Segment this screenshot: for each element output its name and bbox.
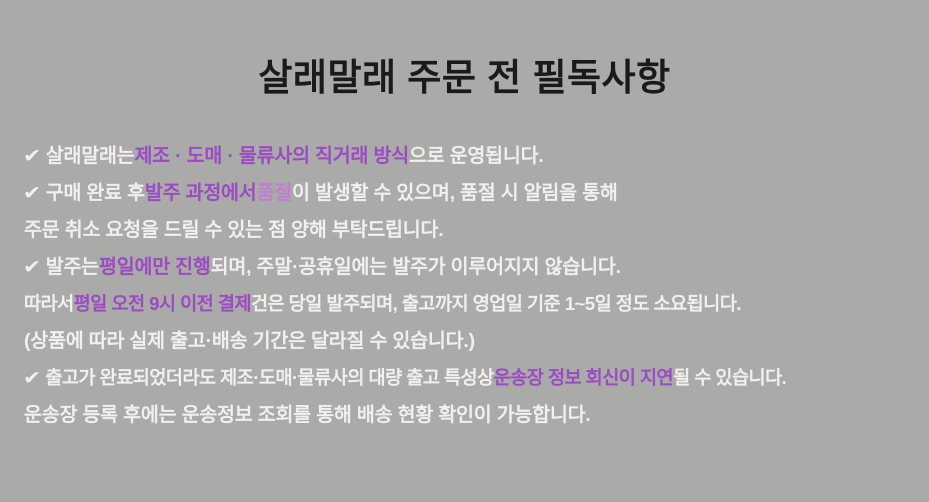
notice-text: 되며, 주말·공휴일에는 발주가 이루어지지 않습니다. bbox=[211, 258, 621, 278]
notice-text: 으로 운영됩니다. bbox=[409, 147, 544, 167]
notice-text: 주문 취소 요청을 드릴 수 있는 점 양해 부탁드립니다. bbox=[24, 221, 444, 241]
notice-text: 운송장 등록 후에는 운송정보 조회를 통해 배송 현황 확인이 가능합니다. bbox=[24, 406, 591, 426]
notice-highlight: 평일 오전 9시 이전 결제 bbox=[74, 295, 251, 314]
notice-line: ✔발주는 평일에만 진행되며, 주말·공휴일에는 발주가 이루어지지 않습니다. bbox=[24, 249, 919, 286]
notice-text: 따라서 bbox=[24, 295, 74, 314]
check-icon: ✔ bbox=[23, 147, 41, 166]
page-title: 살래말래 주문 전 필독사항 bbox=[0, 56, 929, 100]
notice-highlight: 운송장 정보 회신이 지연 bbox=[494, 369, 673, 388]
check-icon: ✔ bbox=[23, 184, 41, 203]
notice-line: 운송장 등록 후에는 운송정보 조회를 통해 배송 현황 확인이 가능합니다. bbox=[24, 397, 919, 434]
notice-highlight: 평일에만 진행 bbox=[99, 258, 211, 278]
notice-text: (상품에 따라 실제 출고·배송 기간은 달라질 수 있습니다.) bbox=[24, 332, 475, 352]
notice-line: 따라서 평일 오전 9시 이전 결제 건은 당일 발주되며, 출고까지 영업일 … bbox=[24, 286, 919, 323]
notice-line: 주문 취소 요청을 드릴 수 있는 점 양해 부탁드립니다. bbox=[24, 212, 919, 249]
notice-line: ✔구매 완료 후 발주 과정에서 품절이 발생할 수 있으며, 품절 시 알림을… bbox=[24, 175, 919, 212]
notice-highlight: 품절 bbox=[257, 184, 292, 204]
check-icon: ✔ bbox=[23, 369, 41, 388]
notice-text: 건은 당일 발주되며, 출고까지 영업일 기준 1~5일 정도 소요됩니다. bbox=[251, 295, 741, 314]
notice-banner: 살래말래 주문 전 필독사항 ✔살래말래는 제조 · 도매 · 물류사의 직거래… bbox=[0, 0, 929, 502]
notice-text: 구매 완료 후 bbox=[46, 184, 145, 204]
notice-highlight: 발주 과정에서 bbox=[145, 184, 257, 204]
notice-highlight: 제조 · 도매 · 물류사의 직거래 방식 bbox=[134, 147, 409, 167]
notice-line: ✔살래말래는 제조 · 도매 · 물류사의 직거래 방식으로 운영됩니다. bbox=[24, 138, 919, 175]
notice-line: ✔출고가 완료되었더라도 제조·도매·물류사의 대량 출고 특성상 운송장 정보… bbox=[24, 360, 919, 397]
notice-text: 이 발생할 수 있으며, 품절 시 알림을 통해 bbox=[292, 184, 618, 204]
notice-text: 출고가 완료되었더라도 제조·도매·물류사의 대량 출고 특성상 bbox=[45, 369, 493, 388]
notice-text: 살래말래는 bbox=[46, 147, 135, 167]
notice-text: 발주는 bbox=[46, 258, 99, 278]
notice-text: 될 수 있습니다. bbox=[673, 369, 786, 388]
notice-body: ✔살래말래는 제조 · 도매 · 물류사의 직거래 방식으로 운영됩니다.✔구매… bbox=[24, 138, 919, 434]
notice-line: (상품에 따라 실제 출고·배송 기간은 달라질 수 있습니다.) bbox=[24, 323, 919, 360]
check-icon: ✔ bbox=[23, 258, 41, 277]
